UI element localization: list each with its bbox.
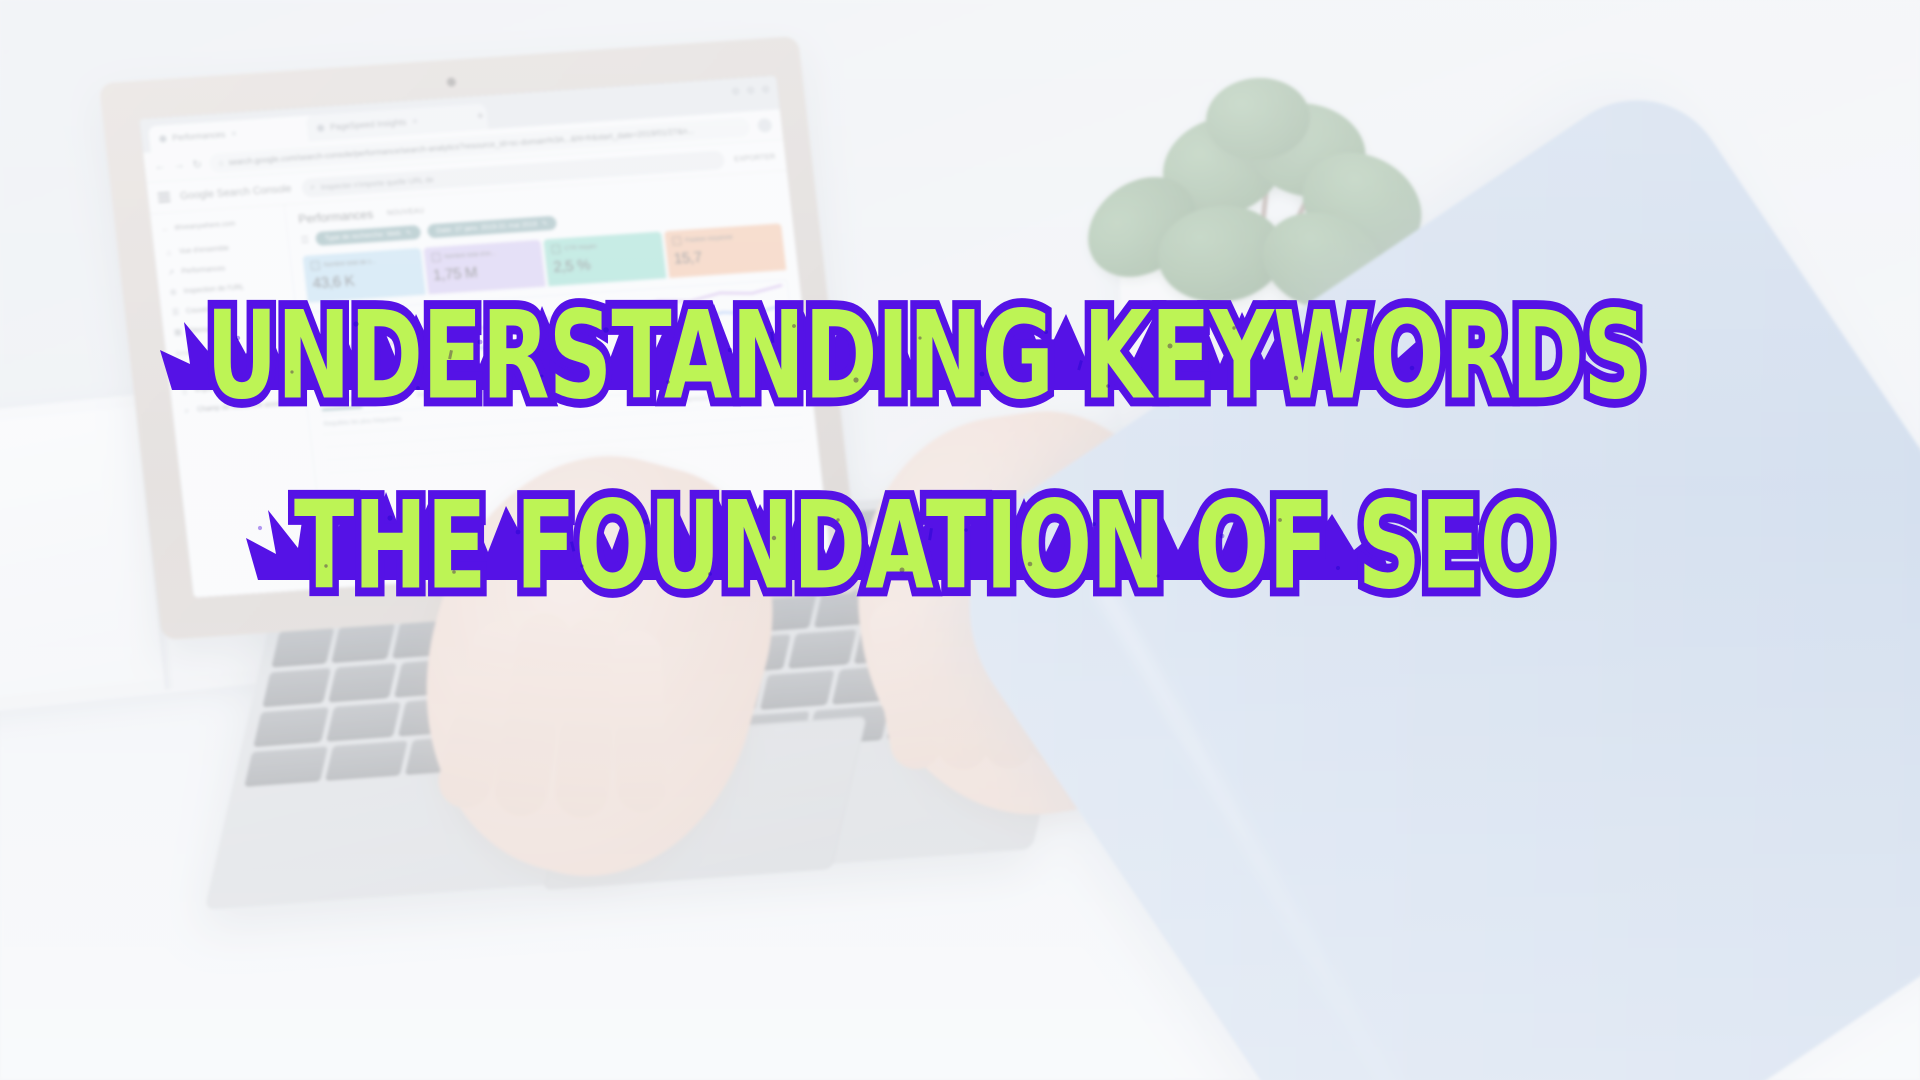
product-name: Google Search Console — [179, 183, 292, 203]
reload-icon[interactable]: ↻ — [192, 157, 203, 171]
property-name: driveanywhere.com — [174, 221, 235, 232]
metric-card-clics[interactable]: ✓ Nombre total de c... 43,6 K — [303, 248, 426, 303]
checkbox-icon[interactable]: ✓ — [671, 236, 681, 246]
mobile-icon: ▯ — [180, 385, 190, 395]
lock-icon: ⌂ — [218, 158, 224, 167]
url-inspect-placeholder: Inspecter n'importe quelle URL de — [320, 174, 434, 191]
filter-icon[interactable]: ☲ — [300, 234, 309, 245]
forward-icon[interactable]: → — [173, 159, 185, 172]
new-tab-button[interactable]: + — [476, 108, 485, 122]
searchbox-icon: ⌕ — [182, 405, 192, 416]
cell-clics — [634, 430, 676, 433]
webcam — [446, 77, 456, 87]
tab-requetes[interactable]: REQUÊTES — [321, 396, 362, 411]
tab-favicon — [159, 135, 167, 142]
sidebar-item-label: Sitemaps — [188, 325, 218, 334]
menu-icon[interactable] — [761, 85, 770, 93]
metric-card-position[interactable]: ✓ Position moyenne 15,7 — [664, 223, 787, 278]
new-filter-button[interactable]: NOUVEAU — [387, 207, 425, 217]
column-ctr[interactable]: CTR — [714, 392, 757, 401]
checkbox-icon[interactable]: ✓ — [310, 261, 320, 271]
tab-pages[interactable]: PAGES — [377, 393, 403, 407]
checkbox-icon[interactable]: ✓ — [431, 253, 441, 263]
metric-value: 1,75 M — [432, 260, 537, 284]
home-icon: ⌂ — [164, 247, 174, 257]
export-button[interactable]: EXPORTER — [734, 151, 776, 163]
page-title: Performances — [298, 207, 374, 226]
chip-search-type[interactable]: Type de recherche: Web ✎ — [315, 225, 421, 246]
metric-card-ctr[interactable]: ✓ CTR moyen 2,5 % — [543, 232, 666, 287]
tab-pays[interactable]: PAYS — [417, 391, 437, 404]
sitemap-icon: ▦ — [173, 327, 183, 337]
cell-clics — [632, 417, 674, 420]
banner-image: Performances × PageSpeed Insights × + — [0, 0, 1920, 1080]
cell-impressions — [676, 427, 718, 430]
checkbox-icon[interactable]: ✓ — [551, 244, 561, 254]
finger — [611, 629, 667, 813]
chip-label: Type de recherche: Web — [324, 230, 401, 242]
inspect-icon: ⊚ — [168, 287, 178, 297]
search-icon: ⌕ — [310, 182, 316, 192]
cell-position — [760, 421, 802, 424]
tab-title: Performances — [172, 129, 226, 143]
sidebar-item-label: Performances — [181, 265, 225, 275]
cell-position — [758, 408, 800, 411]
bookmark-icon[interactable] — [746, 86, 755, 94]
chart-icon: ↗ — [166, 267, 176, 277]
metric-value: 2,5 % — [553, 252, 658, 276]
cell-ctr — [718, 424, 760, 427]
sidebar-item-label: Ergonomie mobile — [195, 382, 252, 393]
metric-value: 15,7 — [673, 244, 778, 268]
back-icon[interactable]: ← — [154, 160, 166, 173]
sidebar-item-label: Signaux Web essentiels — [192, 361, 267, 373]
metric-label: CTR moyen — [564, 243, 597, 251]
tab-favicon — [317, 124, 325, 131]
avatar[interactable] — [757, 118, 773, 133]
column-impressions[interactable]: Impressions — [672, 395, 715, 404]
tab-appareils[interactable]: APPAREILS — [451, 387, 492, 402]
extension-icon[interactable] — [731, 87, 740, 95]
metric-label: Position moyenne — [684, 234, 732, 243]
edit-icon[interactable]: ✎ — [542, 219, 548, 227]
photo-background: Performances × PageSpeed Insights × + — [0, 0, 1920, 1080]
cell-position — [761, 434, 803, 437]
metric-card-impressions[interactable]: ✓ Nombre total d'im... 1,75 M — [423, 240, 546, 295]
cell-clics — [635, 443, 677, 446]
tab-close-icon[interactable]: × — [412, 116, 418, 126]
cell-impressions — [674, 414, 716, 417]
cell-ctr — [716, 411, 758, 414]
window-controls[interactable] — [731, 85, 770, 96]
chip-date-range[interactable]: Date: 27 janv. 2019-31 mai 2019 ✎ — [426, 216, 557, 239]
column-clics[interactable]: Clics — [630, 398, 673, 407]
back-arrow-icon: ← — [161, 224, 170, 233]
sidebar-item-label: Champ de recherche associé a... — [197, 400, 297, 414]
metric-label: Nombre total de c... — [323, 258, 376, 268]
cell-impressions — [677, 440, 719, 443]
column-position[interactable]: Position — [756, 389, 799, 398]
speed-icon: ⊙ — [177, 366, 187, 376]
tab-close-icon[interactable]: × — [231, 128, 237, 138]
sidebar-item-label: Couverture — [186, 305, 221, 314]
metric-value: 43,6 K — [312, 268, 417, 292]
tab-title: PageSpeed Insights — [330, 117, 407, 132]
edit-icon[interactable]: ✎ — [405, 229, 411, 237]
coverage-icon: ☰ — [171, 307, 181, 317]
chip-label: Date: 27 janv. 2019-31 mai 2019 — [436, 220, 538, 234]
cell-ctr — [719, 437, 761, 440]
hamburger-icon[interactable] — [157, 192, 170, 203]
sidebar-item-label: Vue d'ensemble — [179, 245, 229, 255]
metric-label: Nombre total d'im... — [444, 250, 496, 259]
sidebar-item-label: Inspection de l'URL — [183, 284, 244, 295]
